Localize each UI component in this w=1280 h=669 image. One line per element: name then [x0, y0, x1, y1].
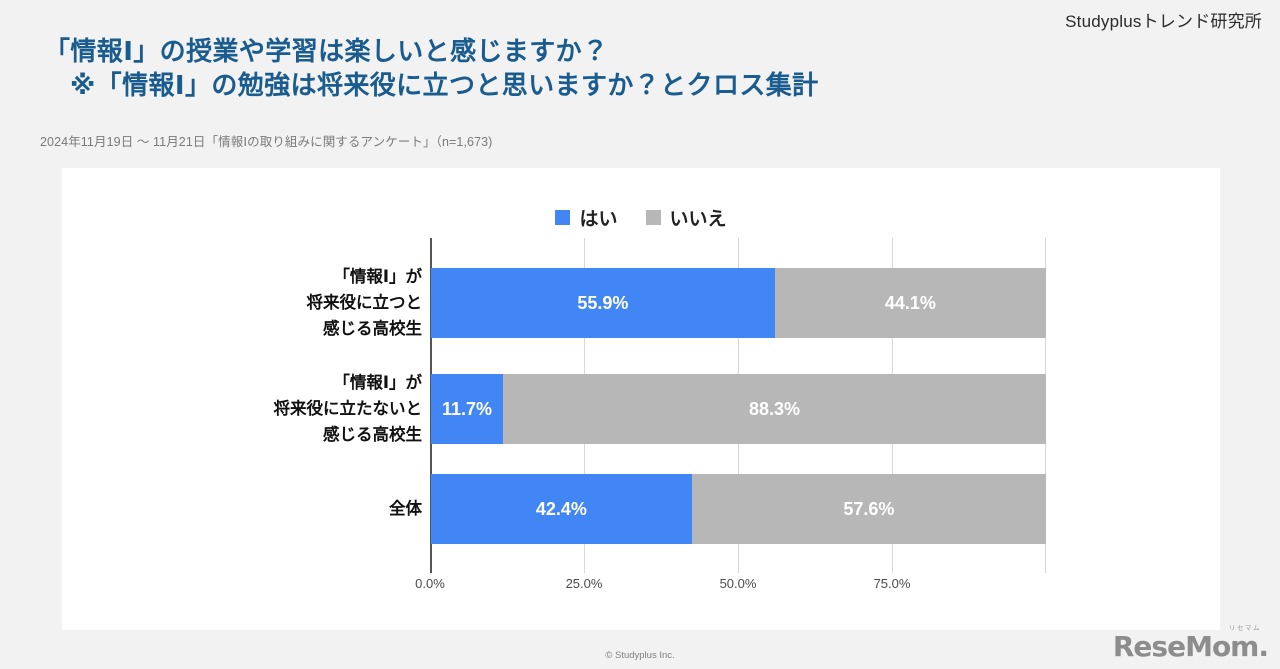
row-label-line: 全体 [389, 496, 422, 522]
bar-segment-no[interactable]: 44.1% [775, 268, 1046, 338]
row-label-line: 「情報Ⅰ」が [333, 370, 422, 396]
x-tick-label-50: 50.0% [720, 576, 757, 591]
stacked-bar: 55.9% 44.1% [431, 268, 1046, 338]
x-tick-label-75: 75.0% [874, 576, 911, 591]
chart-row: 「情報Ⅰ」が 将来役に立たないと 感じる高校生 11.7% 88.3% [62, 374, 1220, 444]
plot-area: 0.0% 25.0% 50.0% 75.0% 「情報Ⅰ」が 将来役に立つと 感じ… [62, 168, 1220, 630]
resemom-logo-word: ReseMom. [1113, 630, 1268, 663]
bar-segment-yes[interactable]: 55.9% [431, 268, 775, 338]
row-label: 「情報Ⅰ」が 将来役に立つと 感じる高校生 [162, 268, 422, 338]
row-label-line: 感じる高校生 [323, 422, 422, 448]
page-title: 「情報Ⅰ」の授業や学習は楽しいと感じますか？ ※「情報Ⅰ」の勉強は将来役に立つと… [44, 34, 1224, 102]
row-label: 「情報Ⅰ」が 将来役に立たないと 感じる高校生 [162, 374, 422, 444]
bar-segment-no[interactable]: 88.3% [503, 374, 1046, 444]
stacked-bar: 42.4% 57.6% [431, 474, 1046, 544]
copyright-text: © Studyplus Inc. [0, 650, 1280, 661]
row-label-line: 「情報Ⅰ」が [333, 264, 422, 290]
chart-row: 全体 42.4% 57.6% [62, 474, 1220, 544]
bar-segment-yes[interactable]: 11.7% [431, 374, 503, 444]
brand-bar: Studyplusトレンド研究所 [0, 0, 1280, 34]
chart-row: 「情報Ⅰ」が 将来役に立つと 感じる高校生 55.9% 44.1% [62, 268, 1220, 338]
chart-card: はい いいえ 0.0% 25.0% 50.0% 75.0% 「情報Ⅰ」が 将来役… [62, 168, 1220, 630]
row-label-line: 感じる高校生 [323, 316, 422, 342]
brand-name: Studyplusトレンド研究所 [1065, 7, 1262, 32]
bar-segment-no[interactable]: 57.6% [692, 474, 1046, 544]
x-tick-label-0: 0.0% [415, 576, 445, 591]
page-title-line-1: 「情報Ⅰ」の授業や学習は楽しいと感じますか？ [44, 34, 1224, 68]
page-title-line-2: ※「情報Ⅰ」の勉強は将来役に立つと思いますか？とクロス集計 [44, 68, 1224, 102]
survey-source-note: 2024年11月19日 〜 11月21日「情報Ⅰの取り組みに関するアンケート」（… [40, 131, 492, 150]
row-label: 全体 [162, 474, 422, 544]
stacked-bar: 11.7% 88.3% [431, 374, 1046, 444]
x-tick-label-25: 25.0% [566, 576, 603, 591]
row-label-line: 将来役に立たないと [274, 396, 423, 422]
row-label-line: 将来役に立つと [307, 290, 423, 316]
bar-segment-yes[interactable]: 42.4% [431, 474, 692, 544]
resemom-logo: リセマム ReseMom. [1113, 626, 1268, 662]
